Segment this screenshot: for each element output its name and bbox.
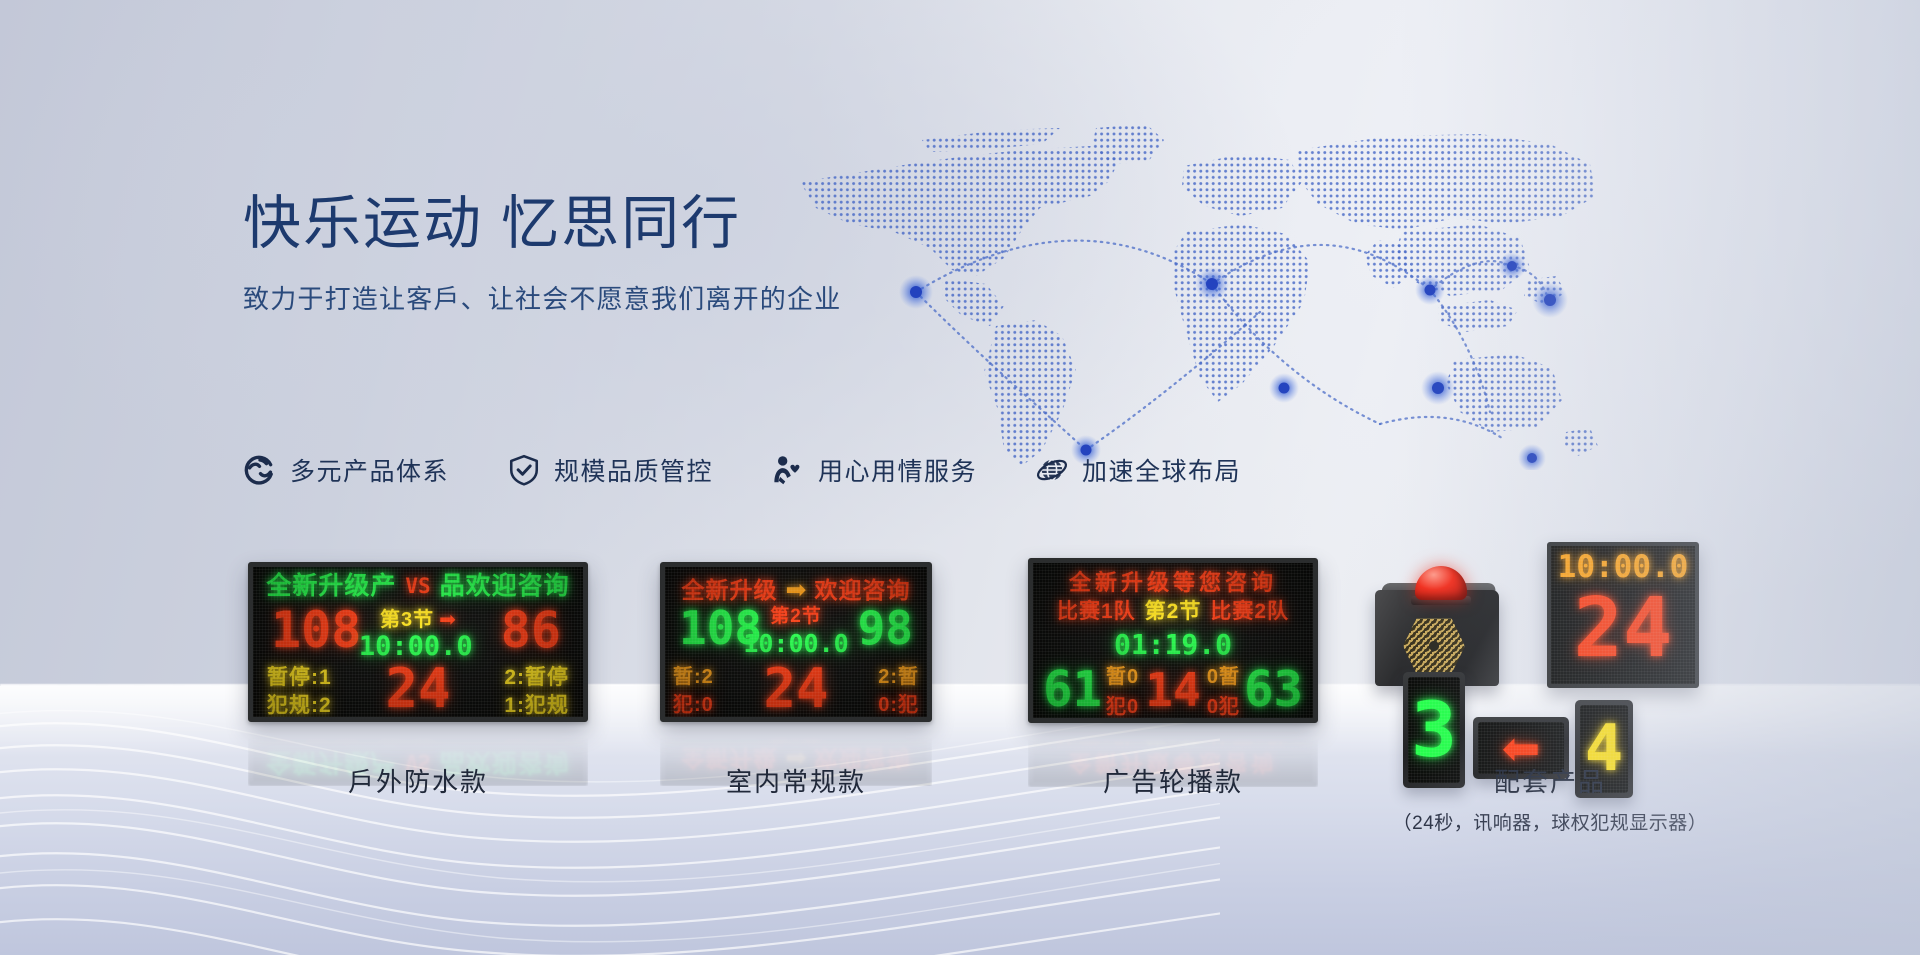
- period-row: 第3节 ➡: [380, 607, 456, 632]
- caption-title: 配套产品: [1380, 762, 1720, 799]
- home-timeout: 暂0: [1106, 667, 1139, 687]
- ad-text-right: 品欢迎咨询: [440, 574, 570, 599]
- away-team-name: 比赛2队: [1210, 601, 1289, 622]
- home-foul: 犯规:2: [267, 695, 332, 716]
- period-label: 第3节: [380, 610, 434, 630]
- possession-green-value: 3: [1411, 692, 1457, 768]
- away-foul: 0:犯: [878, 695, 919, 715]
- product-ad-rotation[interactable]: 全新升级等您咨询 比赛1队 第2节 比赛2队 01:19.0 61 63 14 …: [1028, 558, 1318, 723]
- page-title: 快乐运动 忆思同行: [243, 192, 983, 257]
- caption-title: 戶外防水款: [248, 762, 588, 799]
- buzzer-unit[interactable]: [1375, 566, 1503, 686]
- game-clock: 01:19.0: [1114, 631, 1232, 659]
- away-timeout: 2:暂停: [504, 667, 569, 688]
- ad-text-right: 欢迎咨询: [814, 579, 910, 602]
- page-subtitle: 致力于打造让客戶、让社会不愿意我们离开的企业: [243, 279, 983, 316]
- caption-ad-rotation: 广告轮播款: [1028, 762, 1318, 799]
- red-beacon-dome: [1415, 566, 1467, 600]
- game-clock: 10:00.0: [359, 633, 473, 660]
- away-timeout: 2:暂: [878, 667, 919, 687]
- feature-list: 多元产品体系 规模品质管控 用心用情服务: [243, 452, 1353, 488]
- period-label: 第2节: [770, 607, 822, 626]
- scoreboard-advertising[interactable]: 全新升级等您咨询 比赛1队 第2节 比赛2队 01:19.0 61 63 14 …: [1028, 558, 1318, 723]
- home-foul: 犯0: [1106, 697, 1139, 717]
- shot-clock-unit[interactable]: 10:00.0 24: [1547, 542, 1699, 688]
- caption-indoor: 室内常规款: [660, 762, 932, 799]
- caption-title: 室内常规款: [660, 762, 932, 799]
- shot-clock: 24: [385, 662, 450, 716]
- shot-clock-time: 10:00.0: [1558, 552, 1689, 583]
- caption-row: 戶外防水款 室内常规款 广告轮播款 配套产品 （24秒，讯响器，球权犯规显示器）: [0, 762, 1920, 842]
- feature-label: 规模品质管控: [554, 452, 713, 488]
- banner-stage: 快乐运动 忆思同行 致力于打造让客戶、让社会不愿意我们离开的企业 多元产品体系: [0, 0, 1920, 955]
- caption-accessories: 配套产品 （24秒，讯响器，球权犯规显示器）: [1380, 762, 1720, 835]
- swirl-icon: [243, 453, 277, 487]
- away-score: 63: [1244, 665, 1303, 714]
- home-timeout: 暂:2: [673, 667, 714, 687]
- caption-outdoor: 戶外防水款: [248, 762, 588, 799]
- away-score: 98: [858, 605, 913, 651]
- shield-check-icon: [507, 453, 541, 487]
- caption-subtitle: （24秒，讯响器，球权犯规显示器）: [1380, 808, 1720, 835]
- home-score: 108: [271, 605, 361, 655]
- product-outdoor-waterproof[interactable]: 全新升级产 VS 品欢迎咨询 108 86 第3节 ➡ 10:00.0 24 暂…: [248, 562, 588, 722]
- feature-label: 加速全球布局: [1082, 452, 1241, 488]
- vs-label: VS: [405, 576, 430, 597]
- away-foul: 0犯: [1207, 697, 1240, 717]
- feature-item-service[interactable]: 用心用情服务: [771, 452, 977, 488]
- shot-clock: 24: [763, 662, 828, 716]
- away-timeout: 0暂: [1207, 667, 1240, 687]
- away-score: 86: [501, 605, 561, 655]
- scoreboard-ad-row: 全新升级产 VS 品欢迎咨询: [253, 574, 583, 599]
- game-clock: 10:00.0: [743, 631, 848, 656]
- hero-text-block: 快乐运动 忆思同行 致力于打造让客戶、让社会不愿意我们离开的企业: [243, 192, 983, 316]
- ad-text-left: 全新升级: [682, 579, 778, 602]
- ad-text: 全新升级等您咨询: [1033, 572, 1313, 594]
- product-indoor-standard[interactable]: 全新升级 ➡ 欢迎咨询 108 98 第2节 10:00.0 24 暂:2 犯:…: [660, 562, 932, 722]
- feature-item-quality-control[interactable]: 规模品质管控: [507, 452, 713, 488]
- caption-title: 广告轮播款: [1028, 762, 1318, 799]
- period-label: 第2节: [1145, 601, 1202, 622]
- shot-clock: 14: [1145, 667, 1200, 713]
- possession-arrow-icon: ➡: [439, 607, 456, 632]
- arrow-right-icon: ➡: [786, 575, 807, 605]
- scoreboard-indoor[interactable]: 全新升级 ➡ 欢迎咨询 108 98 第2节 10:00.0 24 暂:2 犯:…: [660, 562, 932, 722]
- feature-item-global-layout[interactable]: 加速全球布局: [1035, 452, 1241, 488]
- home-timeout: 暂停:1: [267, 667, 332, 688]
- feature-label: 用心用情服务: [818, 452, 977, 488]
- away-foul: 1:犯规: [504, 695, 569, 716]
- ad-text-left: 全新升级产: [266, 574, 396, 599]
- person-heart-icon: [771, 453, 805, 487]
- home-foul: 犯:0: [673, 695, 714, 715]
- team-period-row: 比赛1队 第2节 比赛2队: [1033, 601, 1313, 622]
- globe-icon: [1035, 453, 1069, 487]
- feature-label: 多元产品体系: [290, 452, 449, 488]
- feature-item-product-system[interactable]: 多元产品体系: [243, 452, 449, 488]
- home-score: 61: [1043, 665, 1102, 714]
- shot-clock-seconds: 24: [1574, 588, 1673, 670]
- scoreboard-outdoor[interactable]: 全新升级产 VS 品欢迎咨询 108 86 第3节 ➡ 10:00.0 24 暂…: [248, 562, 588, 722]
- home-team-name: 比赛1队: [1057, 601, 1136, 622]
